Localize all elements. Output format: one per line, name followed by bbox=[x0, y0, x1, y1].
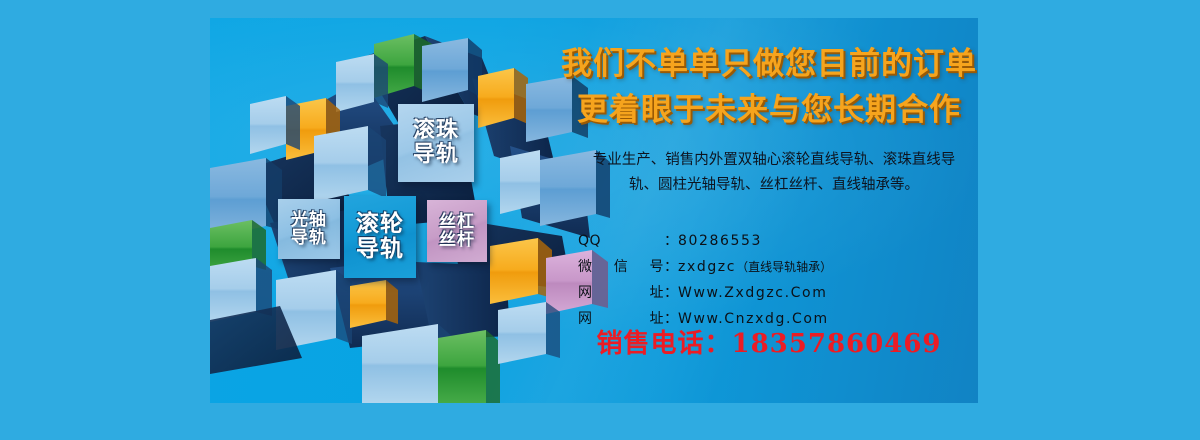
product-label-line1: 光轴 bbox=[291, 211, 327, 229]
product-label-line1: 丝杠 bbox=[439, 213, 475, 231]
product-label-line2: 导轨 bbox=[413, 143, 459, 167]
product-label-ball-guide: 滚珠 导轨 bbox=[398, 104, 474, 182]
contact-value-website-1[interactable]: Www.Zxdgzc.Com bbox=[678, 285, 827, 301]
sales-phone-number[interactable]: 18357860469 bbox=[732, 329, 942, 359]
contact-row-website-1[interactable]: 网址 ： Www.Zxdgzc.Com bbox=[578, 282, 958, 302]
contact-row-wechat: 微信号 ： zxdgzc （直线导轨轴承） bbox=[578, 256, 958, 276]
headline-line-2: 更着眼于未来与您长期合作 bbox=[560, 91, 978, 131]
promo-banner: 滚珠 导轨 光轴 导轨 滚轮 导轨 丝杠 丝杆 我们不单单只做您目前的订单 更着… bbox=[210, 18, 978, 403]
product-label-optical-shaft-guide: 光轴 导轨 bbox=[278, 199, 340, 259]
banner-copy-column: 我们不单单只做您目前的订单 更着眼于未来与您长期合作 专业生产、销售内外置双轴心… bbox=[560, 18, 978, 403]
product-label-roller-guide: 滚轮 导轨 bbox=[344, 196, 416, 278]
contact-row-qq: QQ ： 80286553 bbox=[578, 230, 958, 250]
product-label-line2: 导轨 bbox=[291, 229, 327, 247]
product-label-line2: 导轨 bbox=[356, 237, 404, 262]
product-label-lead-screw: 丝杠 丝杆 bbox=[427, 200, 487, 262]
company-description: 专业生产、销售内外置双轴心滚轮直线导轨、滚珠直线导轨、圆柱光轴导轨、丝杠丝杆、直… bbox=[588, 148, 960, 198]
contact-key: 微信号 bbox=[578, 256, 664, 276]
contact-separator: ： bbox=[664, 282, 678, 302]
contact-separator: ： bbox=[664, 230, 678, 250]
contact-note-wechat: （直线导轨轴承） bbox=[736, 258, 832, 275]
sales-phone-line: 销售电话：18357860469 bbox=[560, 323, 978, 360]
contact-value-qq: 80286553 bbox=[678, 233, 762, 249]
contact-separator: ： bbox=[664, 256, 678, 276]
headline-line-1: 我们不单单只做您目前的订单 bbox=[560, 45, 978, 85]
product-label-line1: 滚珠 bbox=[413, 119, 459, 143]
contact-info-block: QQ ： 80286553 微信号 ： zxdgzc （直线导轨轴承） 网址 ：… bbox=[578, 230, 958, 334]
banner-canvas: 滚珠 导轨 光轴 导轨 滚轮 导轨 丝杠 丝杆 我们不单单只做您目前的订单 更着… bbox=[0, 0, 1200, 440]
product-label-line1: 滚轮 bbox=[356, 212, 404, 237]
product-label-line2: 丝杆 bbox=[439, 231, 475, 249]
sales-phone-label: 销售电话： bbox=[596, 329, 731, 359]
contact-key: QQ bbox=[578, 233, 664, 249]
exploding-cubes-graphic: 滚珠 导轨 光轴 导轨 滚轮 导轨 丝杠 丝杆 bbox=[210, 18, 610, 403]
contact-value-wechat: zxdgzc bbox=[678, 259, 736, 275]
contact-key: 网址 bbox=[578, 282, 664, 302]
